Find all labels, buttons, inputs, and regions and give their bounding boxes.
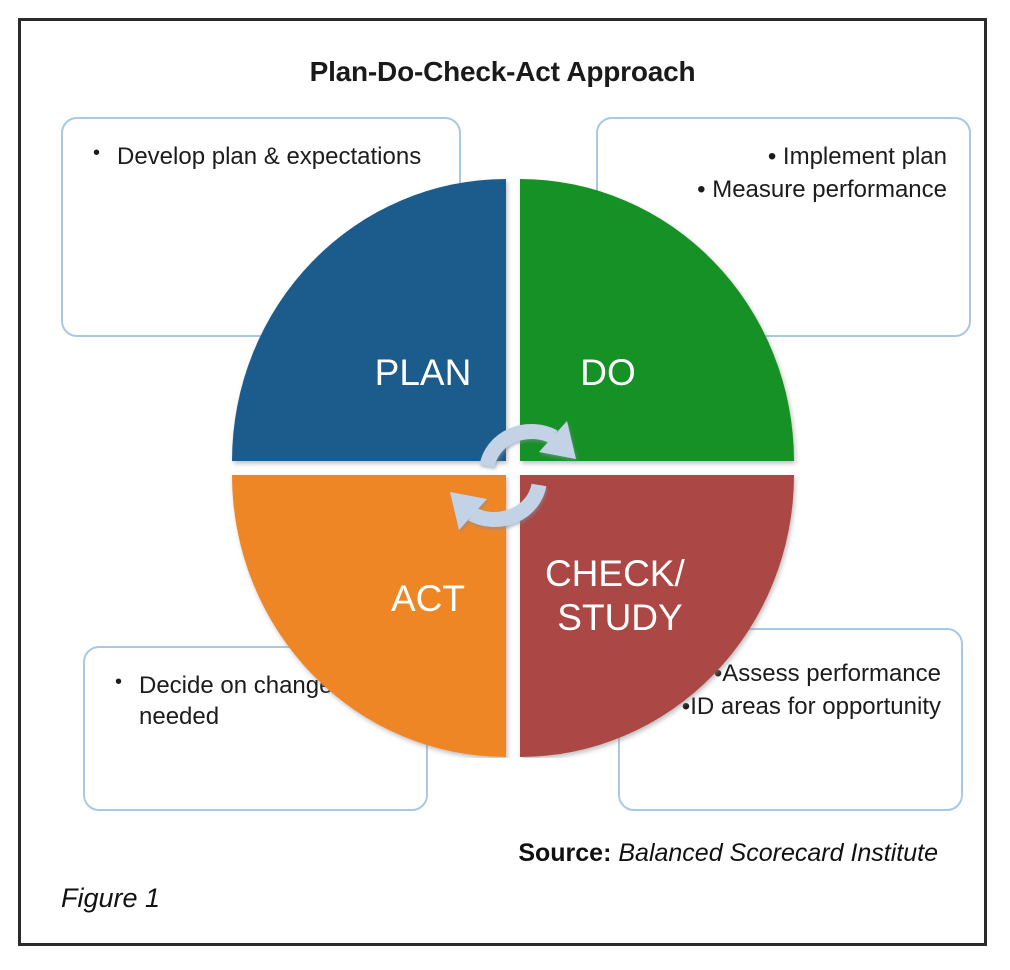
wheel-segment-plan: [232, 179, 506, 461]
wheel-segment-do: [520, 179, 794, 461]
source-line: Source: Balanced Scorecard Institute: [518, 839, 938, 868]
figure-caption: Figure 1: [61, 883, 160, 914]
wheel-label-act: ACT: [391, 578, 465, 619]
page-title: Plan-Do-Check-Act Approach: [21, 56, 984, 88]
wheel-label-plan: PLAN: [375, 352, 472, 393]
pdca-wheel: PLAN DO ACT CHECK/ STUDY: [223, 163, 803, 758]
wheel-label-do: DO: [580, 352, 636, 393]
source-label: Source:: [518, 839, 611, 867]
figure-frame: Plan-Do-Check-Act Approach Develop plan …: [18, 18, 987, 946]
source-value: Balanced Scorecard Institute: [618, 839, 938, 867]
